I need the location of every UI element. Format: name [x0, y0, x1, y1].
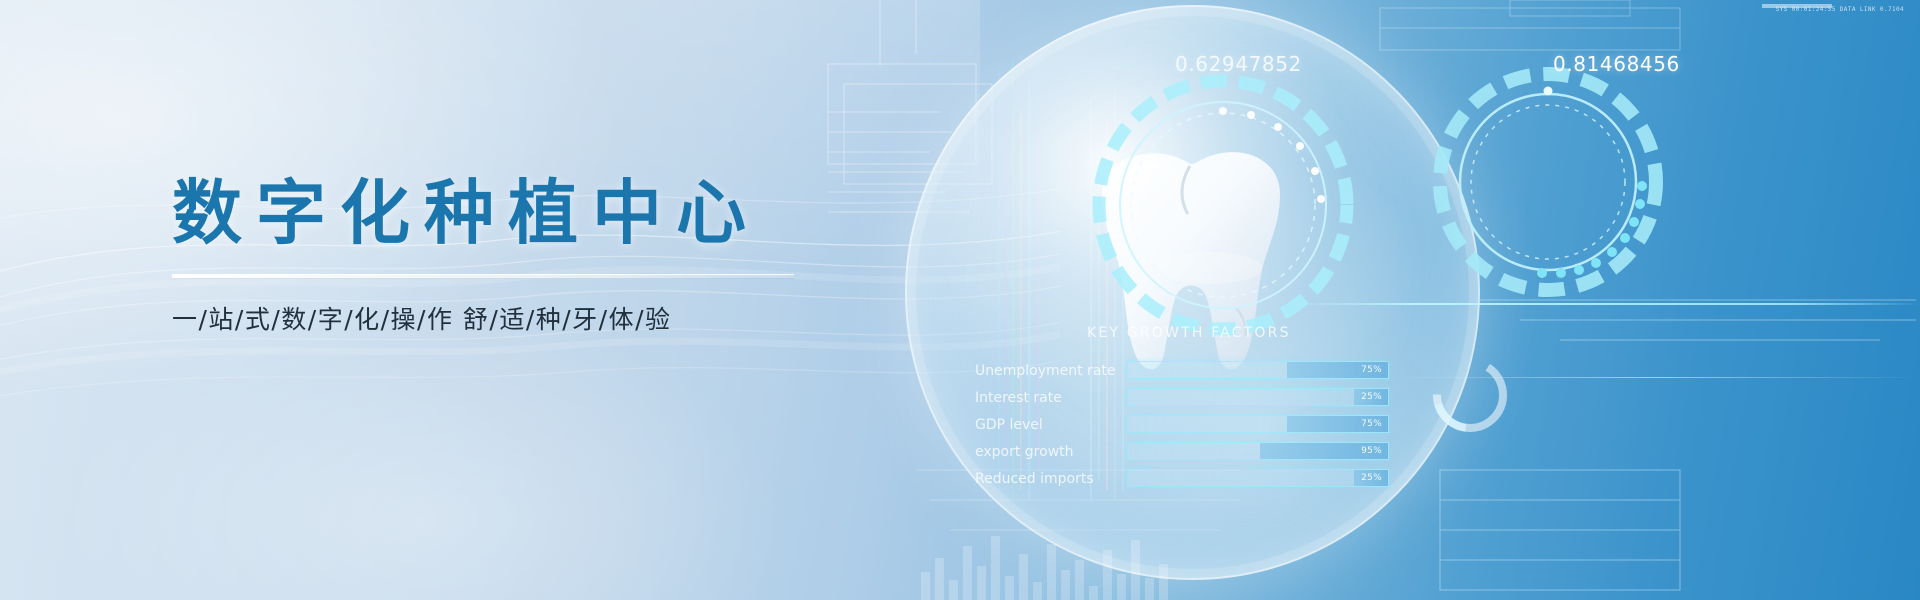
- hud-microtext: SYS 00:01:24:55 DATA LINK 0.7104: [1776, 6, 1904, 13]
- chart-bar-label: export growth: [975, 444, 1123, 460]
- chart-bar-row: Unemployment rate75%: [975, 361, 1405, 383]
- banner-root: 数字化种植中心 一/站/式/数/字/化/操/作 舒/适/种/牙/体/验: [0, 0, 1920, 600]
- chart-title: KEY GROWTH FACTORS: [1087, 325, 1291, 341]
- chart-bar-value: 75%: [1361, 365, 1382, 375]
- page-title: 数字化种植中心: [172, 178, 872, 248]
- hud-ring-small-icon: [1425, 350, 1515, 440]
- hud-readout-value-1: 0.62947852: [1175, 52, 1302, 76]
- chart-bar-track: 25%: [1127, 469, 1389, 487]
- chart-bar-value: 75%: [1361, 419, 1382, 429]
- chart-bar-label: Unemployment rate: [975, 363, 1123, 379]
- chart-bar-label: GDP level: [975, 417, 1123, 433]
- hud-readout-value-2: 0.81468456: [1553, 52, 1680, 76]
- title-divider: [172, 274, 794, 279]
- chart-bar-row: export growth95%: [975, 442, 1405, 464]
- chart-bar-track: 95%: [1127, 442, 1389, 460]
- chart-bar-row: GDP level75%: [975, 415, 1405, 437]
- chart-bar-label: Interest rate: [975, 390, 1123, 406]
- chart-bar-row: Reduced imports25%: [975, 469, 1405, 491]
- chart-bar-track: 25%: [1127, 388, 1389, 406]
- chart-bar-track: 75%: [1127, 361, 1389, 379]
- chart-rows: Unemployment rate75%Interest rate25%GDP …: [975, 361, 1405, 496]
- chart-bar-row: Interest rate25%: [975, 388, 1405, 410]
- chart-bar-value: 25%: [1361, 473, 1382, 483]
- hud-ring-icon: [1428, 62, 1668, 302]
- hero-text-block: 数字化种植中心 一/站/式/数/字/化/操/作 舒/适/种/牙/体/验: [172, 178, 872, 336]
- chart-bar-label: Reduced imports: [975, 471, 1123, 487]
- chart-bar-value: 25%: [1361, 392, 1382, 402]
- tech-graphic-panel: 0.62947852 0.81468456 SYS 00:01:24:55 DA…: [820, 0, 1920, 600]
- chart-bar-track: 75%: [1127, 415, 1389, 433]
- hud-ring-icon: [1088, 70, 1358, 340]
- page-subtitle: 一/站/式/数/字/化/操/作 舒/适/种/牙/体/验: [172, 300, 872, 336]
- chart-bar-value: 95%: [1361, 446, 1382, 456]
